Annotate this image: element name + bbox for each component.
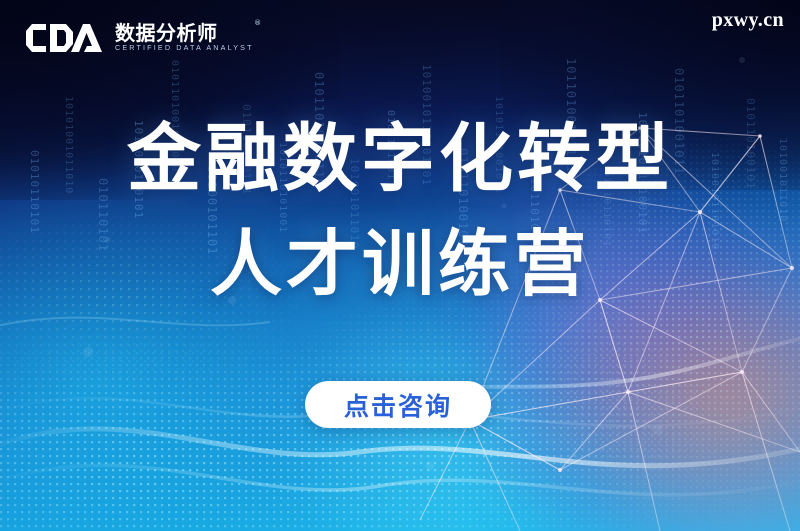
consult-button[interactable]: 点击咨询	[305, 381, 491, 428]
headline-line-1: 金融数字化转型	[0, 122, 800, 196]
cda-logo-icon	[26, 22, 106, 52]
logo-english-name: CERTIFIED DATA ANALYST	[115, 44, 254, 51]
cda-logo-text: 数据分析师® CERTIFIED DATA ANALYST	[115, 23, 254, 52]
logo-chinese-name: 数据分析师®	[115, 23, 254, 43]
promo-banner: 0101011010110101001011010010110101101001…	[0, 0, 800, 531]
registered-trademark-icon: ®	[254, 20, 262, 27]
site-watermark: pxwy.cn	[712, 9, 784, 32]
headline-block: 金融数字化转型 人才训练营	[0, 122, 800, 300]
cda-logo[interactable]: 数据分析师® CERTIFIED DATA ANALYST	[26, 22, 254, 52]
headline-line-2: 人才训练营	[0, 228, 800, 300]
